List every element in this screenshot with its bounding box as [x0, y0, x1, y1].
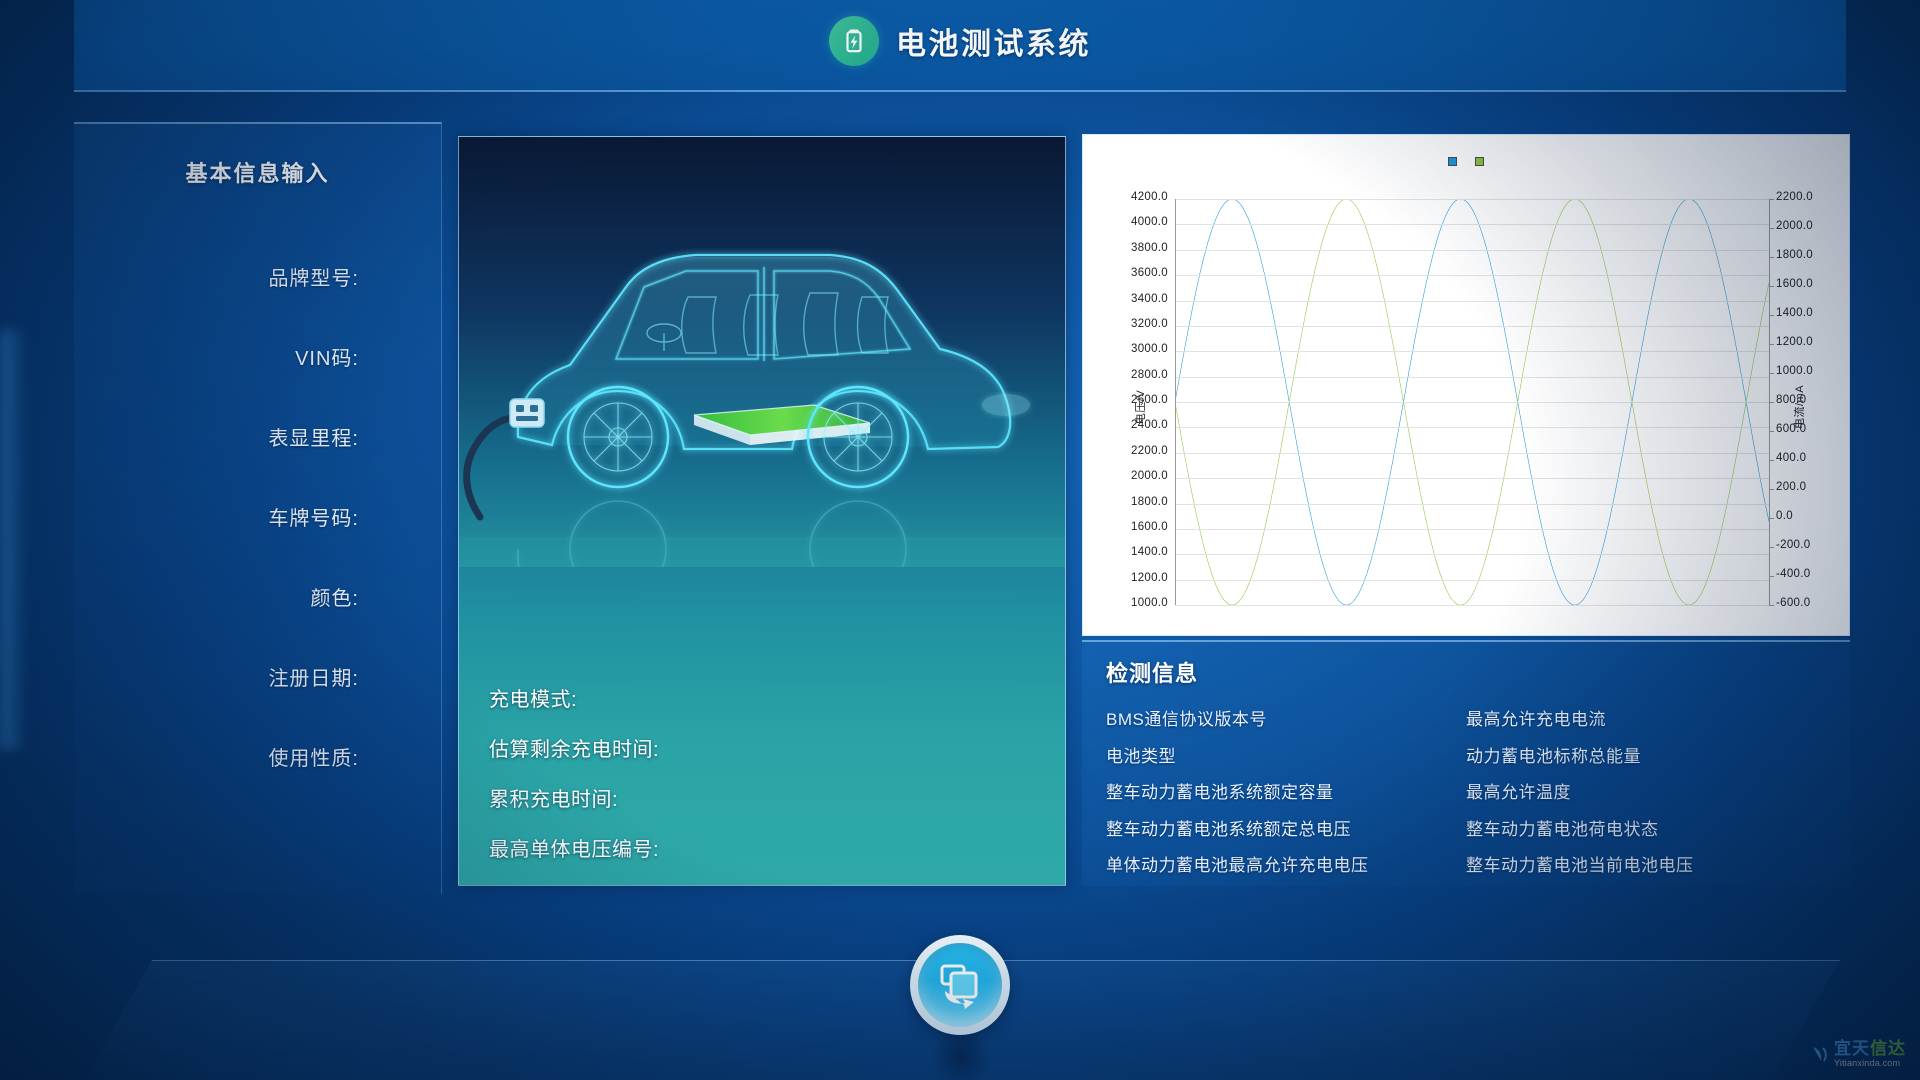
chart-ytick-left: 1600.0	[1131, 521, 1168, 533]
center-field-charge-mode[interactable]: 充电模式:	[489, 672, 1066, 722]
chart-ytick-left: 4200.0	[1131, 191, 1168, 203]
chart-ytick-right: 1800.0	[1776, 249, 1813, 261]
chart-gridline	[1175, 250, 1769, 251]
detection-info-panel: 检测信息 BMS通信协议版本号 电池类型 整车动力蓄电池系统额定容量 整车动力蓄…	[1082, 640, 1850, 886]
field-label-vin: VIN码:	[295, 342, 359, 371]
chart-ytick-left: 1400.0	[1131, 546, 1168, 558]
chart-ytick-left: 3000.0	[1131, 343, 1168, 355]
chart-legend	[1083, 157, 1849, 166]
info-item-bms-protocol[interactable]: BMS通信协议版本号	[1106, 702, 1466, 739]
info-item-rated-total-voltage[interactable]: 整车动力蓄电池系统额定总电压	[1106, 812, 1466, 849]
watermark-cn-2: 信达	[1870, 1039, 1906, 1058]
chart-gridline	[1175, 402, 1769, 403]
chart-plot-area: 电压/V 电流/mA 4200.04000.03800.03600.03400.…	[1175, 199, 1769, 605]
chart-ytick-right: 1200.0	[1776, 336, 1813, 348]
chart-ytick-right: 400.0	[1776, 452, 1806, 464]
detection-info-left-column: BMS通信协议版本号 电池类型 整车动力蓄电池系统额定容量 整车动力蓄电池系统额…	[1106, 702, 1466, 885]
field-row-mileage[interactable]: 表显里程:	[74, 396, 359, 476]
legend-swatch-current[interactable]	[1475, 157, 1484, 166]
info-item-soc[interactable]: 整车动力蓄电池荷电状态	[1466, 812, 1826, 849]
chart-gridline	[1175, 605, 1769, 606]
chart-axis-line	[1175, 199, 1176, 605]
detection-info-title: 检测信息	[1106, 656, 1826, 688]
chart-ytick-right: -400.0	[1776, 568, 1810, 580]
center-label-charge-mode: 充电模式:	[489, 683, 577, 712]
chart-ytick-right: 1000.0	[1776, 365, 1813, 377]
chart-ytick-right: 200.0	[1776, 481, 1806, 493]
chart-axis-line	[1769, 199, 1770, 605]
electric-vehicle-illustration	[459, 137, 1065, 567]
center-label-remaining-time: 估算剩余充电时间:	[489, 733, 659, 762]
info-item-battery-type[interactable]: 电池类型	[1106, 739, 1466, 776]
chart-ytick-right: 0.0	[1776, 510, 1793, 522]
watermark-logo-icon	[1810, 1044, 1830, 1064]
chart-gridline	[1175, 478, 1769, 479]
chart-gridline	[1175, 554, 1769, 555]
chart-ytick-left: 2600.0	[1131, 394, 1168, 406]
center-field-max-cell-voltage-no[interactable]: 最高单体电压编号:	[489, 822, 1066, 872]
center-field-total-time[interactable]: 累积充电时间:	[489, 772, 1066, 822]
center-label-max-temp-point-no: 最高温度检测点编号:	[489, 883, 680, 887]
field-row-plate-number[interactable]: 车牌号码:	[74, 476, 359, 556]
basic-info-field-list: 品牌型号: VIN码: 表显里程: 车牌号码: 颜色: 注册日期: 使用性质:	[74, 236, 441, 796]
info-item-current-voltage[interactable]: 整车动力蓄电池当前电池电压	[1466, 848, 1826, 885]
chart-ytick-left: 4000.0	[1131, 216, 1168, 228]
info-item-max-cell-charge-voltage[interactable]: 单体动力蓄电池最高允许充电电压	[1106, 848, 1466, 885]
chart-ytick-left: 3200.0	[1131, 318, 1168, 330]
chart-gridline	[1175, 351, 1769, 352]
switch-screen-icon	[933, 958, 987, 1012]
charging-info-list: 充电模式: 估算剩余充电时间: 累积充电时间: 最高单体电压编号: 最高温度检测…	[489, 672, 1066, 886]
battery-bolt-icon	[829, 16, 879, 66]
field-row-brand-model[interactable]: 品牌型号:	[74, 236, 359, 316]
chart-gridline	[1175, 427, 1769, 428]
switch-button-shadow	[930, 1028, 992, 1080]
chart-ytick-left: 1200.0	[1131, 572, 1168, 584]
info-item-rated-capacity[interactable]: 整车动力蓄电池系统额定容量	[1106, 775, 1466, 812]
info-item-max-charge-current[interactable]: 最高允许充电电流	[1466, 702, 1826, 739]
chart-gridline	[1175, 377, 1769, 378]
chart-gridline	[1175, 301, 1769, 302]
chart-ytick-left: 1800.0	[1131, 496, 1168, 508]
vehicle-visual-panel: 充电模式: 估算剩余充电时间: 累积充电时间: 最高单体电压编号: 最高温度检测…	[458, 136, 1066, 886]
field-label-brand-model: 品牌型号:	[268, 262, 359, 291]
chart-ytick-right: 600.0	[1776, 423, 1806, 435]
chart-ytick-left: 2000.0	[1131, 470, 1168, 482]
chart-ytick-right: -200.0	[1776, 539, 1810, 551]
field-row-color[interactable]: 颜色:	[74, 556, 359, 636]
field-label-register-date: 注册日期:	[268, 662, 359, 691]
center-field-remaining-time[interactable]: 估算剩余充电时间:	[489, 722, 1066, 772]
chart-gridline	[1175, 529, 1769, 530]
chart-ytick-left: 3400.0	[1131, 293, 1168, 305]
chart-gridline	[1175, 504, 1769, 505]
chart-gridline	[1175, 199, 1769, 200]
field-row-vin[interactable]: VIN码:	[74, 316, 359, 396]
app-header: 电池测试系统	[74, 0, 1846, 92]
field-row-register-date[interactable]: 注册日期:	[74, 636, 359, 716]
switch-screen-button[interactable]	[910, 935, 1010, 1035]
basic-info-title: 基本信息输入	[74, 156, 441, 188]
chart-ytick-left: 3800.0	[1131, 242, 1168, 254]
chart-gridline	[1175, 326, 1769, 327]
chart-gridline	[1175, 275, 1769, 276]
field-label-color: 颜色:	[310, 582, 359, 611]
chart-ytick-left: 2800.0	[1131, 369, 1168, 381]
chart-ytick-left: 1000.0	[1131, 597, 1168, 609]
chart-ytick-left: 3600.0	[1131, 267, 1168, 279]
field-row-usage-type[interactable]: 使用性质:	[74, 716, 359, 796]
watermark-en: Yitianxinda.com	[1834, 1059, 1906, 1068]
left-edge-glow	[0, 330, 26, 750]
detection-info-right-column: 最高允许充电电流 动力蓄电池标称总能量 最高允许温度 整车动力蓄电池荷电状态 整…	[1466, 702, 1826, 885]
info-item-max-temperature[interactable]: 最高允许温度	[1466, 775, 1826, 812]
watermark-cn-1: 宜天	[1834, 1039, 1870, 1058]
field-label-mileage: 表显里程:	[268, 422, 359, 451]
legend-swatch-voltage[interactable]	[1448, 157, 1457, 166]
chart-ytick-left: 2400.0	[1131, 419, 1168, 431]
field-label-usage-type: 使用性质:	[268, 742, 359, 771]
chart-ytick-right: -600.0	[1776, 597, 1810, 609]
page-title: 电池测试系统	[896, 19, 1091, 63]
measurement-chart-panel: 电压/V 电流/mA 4200.04000.03800.03600.03400.…	[1082, 134, 1850, 636]
chart-ytick-right: 2000.0	[1776, 220, 1813, 232]
chart-ytick-right: 1600.0	[1776, 278, 1813, 290]
chart-gridline	[1175, 580, 1769, 581]
chart-ytick-left: 2200.0	[1131, 445, 1168, 457]
chart-ytick-right: 2200.0	[1776, 191, 1813, 203]
info-item-nominal-energy[interactable]: 动力蓄电池标称总能量	[1466, 739, 1826, 776]
chart-ytick-right: 800.0	[1776, 394, 1806, 406]
center-label-max-cell-voltage-no: 最高单体电压编号:	[489, 833, 659, 862]
basic-info-panel: 基本信息输入 品牌型号: VIN码: 表显里程: 车牌号码: 颜色: 注册日期:…	[74, 122, 442, 894]
field-label-plate-number: 车牌号码:	[268, 502, 359, 531]
watermark: 宜天信达 Yitianxinda.com	[1810, 1040, 1906, 1068]
chart-ytick-right: 1400.0	[1776, 307, 1813, 319]
chart-tickmark	[1769, 605, 1774, 606]
chart-gridline	[1175, 453, 1769, 454]
center-label-total-time: 累积充电时间:	[489, 783, 618, 812]
center-field-max-temp-point-no[interactable]: 最高温度检测点编号:	[489, 872, 1066, 886]
chart-gridline	[1175, 224, 1769, 225]
